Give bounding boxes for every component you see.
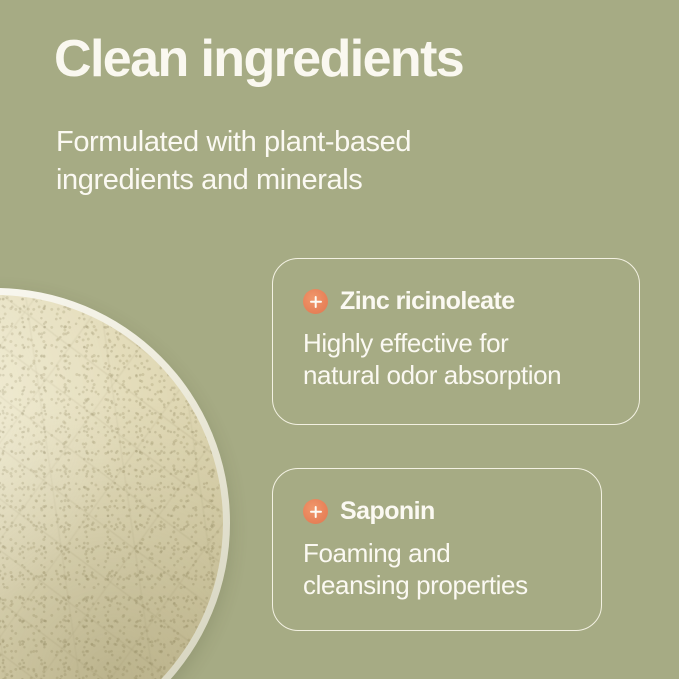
ingredients-infographic: Clean ingredients Formulated with plant-… xyxy=(0,0,679,679)
plus-icon xyxy=(303,289,328,314)
ingredient-description-line: cleansing properties xyxy=(303,569,587,601)
ingredient-card-zinc-ricinoleate: Zinc ricinoleate Highly effective for na… xyxy=(272,258,640,425)
page-subtitle: Formulated with plant-based ingredients … xyxy=(56,124,526,199)
powder-grain-texture xyxy=(0,295,223,679)
ingredient-name: Saponin xyxy=(340,497,435,526)
ingredient-card-header: Saponin xyxy=(303,497,435,526)
page-subtitle-line: Formulated with plant-based xyxy=(56,124,526,162)
page-title: Clean ingredients xyxy=(54,32,634,87)
ingredient-description: Highly effective for natural odor absorp… xyxy=(303,327,625,391)
plus-icon xyxy=(303,499,328,524)
powder-shading xyxy=(0,295,223,679)
ingredient-card-saponin: Saponin Foaming and cleansing properties xyxy=(272,468,602,631)
dish-rim xyxy=(0,288,230,679)
ingredient-description-line: Highly effective for xyxy=(303,327,625,359)
ingredient-description: Foaming and cleansing properties xyxy=(303,537,587,601)
powder-surface xyxy=(0,295,223,679)
powder-crack-texture xyxy=(0,295,223,679)
ingredient-description-line: Foaming and xyxy=(303,537,587,569)
ingredient-name: Zinc ricinoleate xyxy=(340,287,515,316)
powder-dish-image xyxy=(0,288,230,679)
ingredient-description-line: natural odor absorption xyxy=(303,359,625,391)
page-subtitle-line: ingredients and minerals xyxy=(56,162,526,200)
ingredient-card-header: Zinc ricinoleate xyxy=(303,287,515,316)
